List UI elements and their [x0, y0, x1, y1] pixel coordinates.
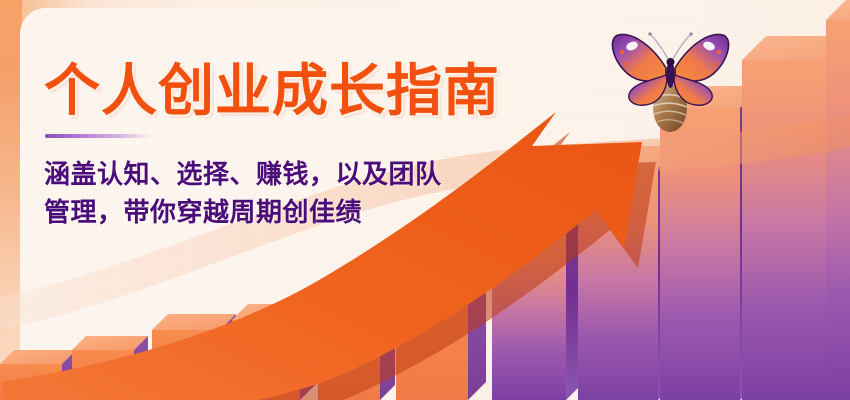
subtitle-line-2: 管理，带你穿越周期创佳绩	[44, 194, 564, 232]
banner-title: 个人创业成长指南	[44, 46, 500, 127]
gradient-divider	[45, 134, 153, 138]
butterfly-icon	[608, 22, 733, 147]
subtitle-line-1: 涵盖认知、选择、赚钱，以及团队	[44, 156, 564, 194]
banner-subtitle: 涵盖认知、选择、赚钱，以及团队 管理，带你穿越周期创佳绩	[44, 156, 564, 231]
promo-banner: 个人创业成长指南 涵盖认知、选择、赚钱，以及团队 管理，带你穿越周期创佳绩	[0, 0, 850, 400]
